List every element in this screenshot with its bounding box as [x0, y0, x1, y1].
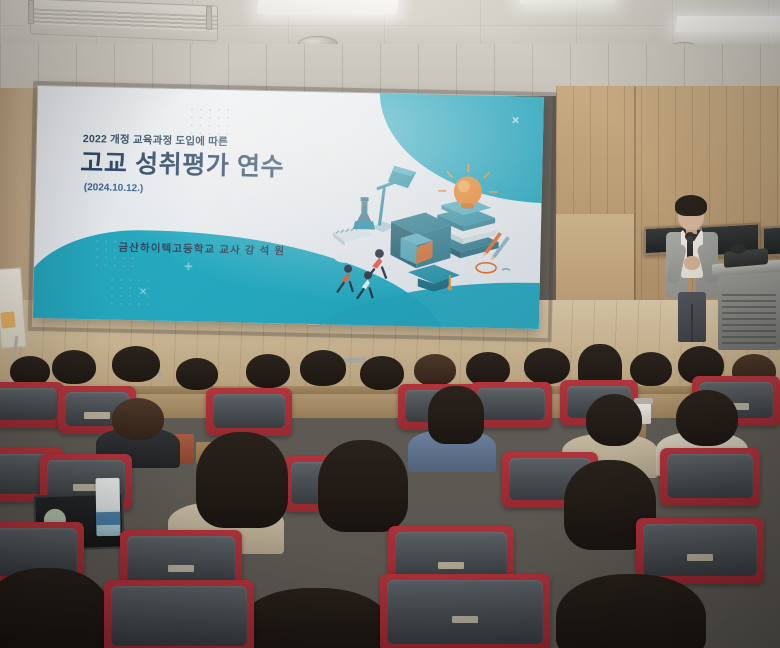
attendee-head — [466, 352, 510, 386]
attendee-head — [300, 350, 346, 386]
seat — [380, 574, 550, 648]
conical-flask-icon — [353, 197, 376, 229]
attendee-head — [524, 348, 570, 384]
attendee-head — [196, 432, 288, 528]
attendee-head — [0, 568, 110, 648]
attendee-head — [112, 346, 160, 382]
isometric-education-illustration — [315, 160, 528, 307]
x-mark-icon: × — [512, 112, 520, 127]
light-bulb-icon — [438, 164, 497, 209]
water-carton — [95, 478, 120, 536]
slide-date: (2024.10.12.) — [84, 182, 144, 194]
hands — [684, 256, 700, 270]
attendee-head — [246, 354, 290, 388]
attendee-head — [52, 350, 96, 384]
wall-seam — [634, 86, 636, 336]
easel-marking — [0, 311, 16, 328]
graduation-cap-icon — [408, 264, 461, 292]
attendee-head — [176, 358, 218, 390]
ac-bracket — [28, 0, 34, 24]
seat — [0, 382, 64, 428]
x-mark-icon: × — [139, 284, 146, 298]
seat — [104, 580, 254, 648]
slide-title: 고교 성취평가 연수 — [80, 143, 285, 183]
attendee-head — [428, 386, 484, 444]
attendee-head — [556, 574, 706, 648]
seat — [636, 518, 764, 584]
plus-mark-icon: + — [184, 258, 193, 275]
av-knob-icon — [730, 244, 746, 254]
hair — [675, 195, 707, 216]
attendee-head — [112, 398, 164, 440]
attendee-head — [318, 440, 408, 532]
attendee-head — [360, 356, 404, 390]
illustration-svg — [315, 160, 528, 307]
ac-vent-grille — [31, 8, 217, 31]
attendee-head — [630, 352, 672, 386]
paper-clip-icon — [476, 263, 496, 273]
slide-dot-grid — [187, 105, 234, 136]
ac-bracket — [206, 6, 212, 30]
seat — [206, 388, 292, 436]
attendee-head — [414, 354, 456, 386]
ac-unit — [30, 0, 218, 42]
panel-light-icon — [675, 16, 780, 32]
running-figure-icon — [357, 271, 373, 298]
attendee-head — [240, 588, 390, 648]
projection-screen: × × + + — [33, 86, 544, 329]
running-figure-icon — [338, 265, 354, 292]
auditorium-photo: × × + + — [0, 0, 780, 648]
attendee-head — [586, 394, 642, 446]
disc-decor — [334, 253, 354, 263]
audience-area — [0, 336, 780, 648]
attendee-head — [676, 390, 738, 446]
slide-surface: × × + + — [33, 86, 544, 329]
panel-light-icon — [519, 0, 616, 4]
seat — [660, 448, 760, 506]
slide-dot-grid — [107, 276, 154, 307]
panel-light-icon — [257, 0, 399, 14]
carton-label — [96, 512, 120, 525]
